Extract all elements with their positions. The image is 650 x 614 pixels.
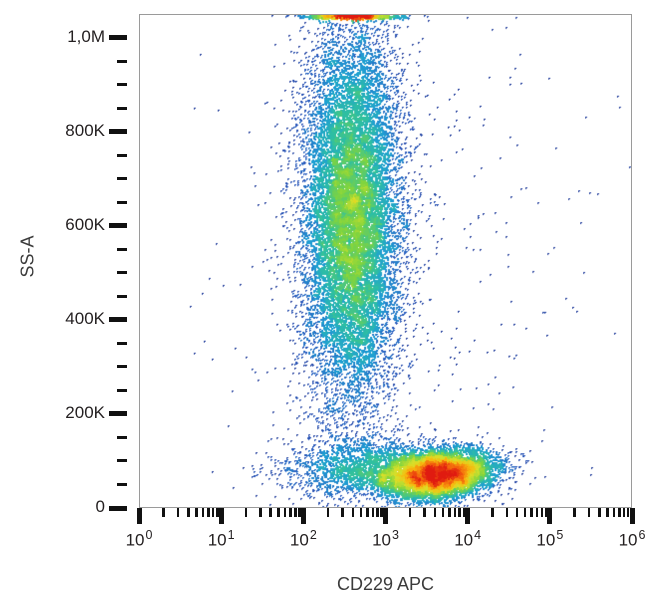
y-tick-minor — [117, 107, 127, 110]
y-tick-minor — [117, 295, 127, 298]
x-tick-minor — [588, 508, 591, 517]
x-tick-major — [383, 508, 388, 524]
x-tick-label: 106 — [619, 528, 646, 551]
x-tick-minor — [245, 508, 248, 517]
y-tick-minor — [117, 436, 127, 439]
x-tick-label: 100 — [126, 528, 153, 551]
x-tick-minor — [207, 508, 210, 517]
x-tick-minor — [423, 508, 426, 517]
y-tick-major — [109, 317, 127, 322]
y-tick-minor — [117, 483, 127, 486]
x-axis-title: CD229 APC — [139, 574, 632, 595]
y-tick-label: 200K — [65, 403, 105, 423]
y-tick-minor — [117, 459, 127, 462]
density-scatter-canvas — [140, 15, 631, 507]
y-tick-label: 400K — [65, 309, 105, 329]
x-tick-major — [465, 508, 470, 524]
x-tick-minor — [212, 508, 215, 517]
x-tick-major — [301, 508, 306, 524]
x-tick-minor — [613, 508, 616, 517]
x-tick-minor — [352, 508, 355, 517]
x-tick-minor — [366, 508, 369, 517]
x-tick-major — [547, 508, 552, 524]
y-tick-label: 600K — [65, 215, 105, 235]
x-tick-minor — [202, 508, 205, 517]
x-tick-label: 102 — [290, 528, 317, 551]
flow-cytometry-figure: 0200K400K600K800K1,0M 100101102103104105… — [0, 0, 650, 614]
y-tick-minor — [117, 60, 127, 63]
x-tick-minor — [618, 508, 621, 517]
x-tick-minor — [545, 508, 548, 517]
x-tick-minor — [380, 508, 383, 517]
x-tick-major — [137, 508, 142, 524]
y-tick-label: 0 — [96, 497, 105, 517]
x-tick-minor — [506, 508, 509, 517]
plot-area[interactable] — [139, 14, 632, 508]
x-tick-minor — [541, 508, 544, 517]
x-tick-minor — [627, 508, 630, 517]
x-tick-minor — [598, 508, 601, 517]
x-tick-label: 104 — [454, 528, 481, 551]
x-tick-minor — [573, 508, 576, 517]
x-tick-minor — [606, 508, 609, 517]
x-tick-minor — [187, 508, 190, 517]
x-tick-label: 103 — [372, 528, 399, 551]
y-tick-minor — [117, 83, 127, 86]
x-tick-minor — [341, 508, 344, 517]
x-tick-minor — [458, 508, 461, 517]
x-tick-minor — [536, 508, 539, 517]
y-axis-title: SS-A — [18, 207, 39, 307]
x-tick-major — [219, 508, 224, 524]
x-tick-minor — [491, 508, 494, 517]
x-tick-minor — [289, 508, 292, 517]
x-tick-minor — [284, 508, 287, 517]
x-tick-minor — [516, 508, 519, 517]
x-tick-minor — [448, 508, 451, 517]
x-axis-ticks: 100101102103104105106 — [139, 508, 632, 532]
y-tick-major — [109, 506, 127, 511]
x-tick-minor — [376, 508, 379, 517]
x-tick-major — [630, 508, 635, 524]
x-tick-minor — [177, 508, 180, 517]
y-tick-minor — [117, 154, 127, 157]
y-tick-major — [109, 129, 127, 134]
y-tick-minor — [117, 201, 127, 204]
y-tick-major — [109, 411, 127, 416]
y-tick-minor — [117, 342, 127, 345]
x-tick-minor — [372, 508, 375, 517]
y-tick-label: 800K — [65, 121, 105, 141]
y-tick-major — [109, 35, 127, 40]
x-tick-minor — [360, 508, 363, 517]
x-tick-minor — [259, 508, 262, 517]
x-tick-minor — [327, 508, 330, 517]
x-tick-minor — [623, 508, 626, 517]
x-tick-minor — [454, 508, 457, 517]
x-tick-minor — [530, 508, 533, 517]
y-tick-minor — [117, 365, 127, 368]
x-tick-minor — [216, 508, 219, 517]
x-tick-minor — [409, 508, 412, 517]
x-tick-minor — [463, 508, 466, 517]
x-tick-minor — [269, 508, 272, 517]
y-tick-minor — [117, 271, 127, 274]
y-tick-label: 1,0M — [67, 27, 105, 47]
x-tick-minor — [195, 508, 198, 517]
x-tick-minor — [277, 508, 280, 517]
y-tick-minor — [117, 389, 127, 392]
y-tick-major — [109, 223, 127, 228]
x-tick-minor — [162, 508, 165, 517]
x-tick-minor — [434, 508, 437, 517]
x-tick-label: 101 — [208, 528, 235, 551]
x-tick-minor — [524, 508, 527, 517]
y-tick-minor — [117, 248, 127, 251]
x-tick-label: 105 — [536, 528, 563, 551]
x-tick-minor — [298, 508, 301, 517]
x-tick-minor — [294, 508, 297, 517]
y-tick-minor — [117, 177, 127, 180]
x-tick-minor — [442, 508, 445, 517]
